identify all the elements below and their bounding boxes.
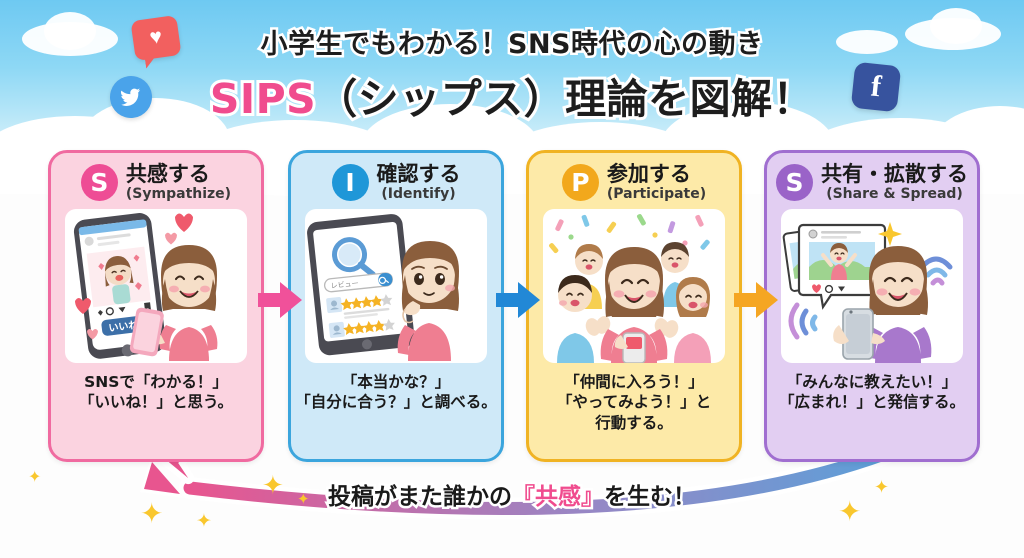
caption-line: 「仲間に入ろう！」	[531, 372, 737, 393]
card-caption: 「本当かな？」 「自分に合う？」と調べる。	[293, 372, 499, 414]
illustration-participate	[543, 209, 725, 363]
illustration-share-spread	[781, 209, 963, 363]
caption-line: 「広まれ！」と発信する。	[769, 392, 975, 413]
card-participate[interactable]: P 参加する (Participate)	[526, 150, 742, 462]
caption-line: 「本当かな？」	[293, 372, 499, 393]
card-header: I 確認する (Identify)	[324, 163, 469, 202]
caption-line: 「いいね！」と思う。	[53, 392, 259, 413]
illustration-identify: レビュー	[305, 209, 487, 363]
card-header: P 参加する (Participate)	[554, 163, 714, 202]
step-badge-p: P	[562, 164, 599, 201]
card-title-en: (Participate)	[607, 186, 706, 202]
sparkle-icon: ✦	[196, 512, 212, 531]
step-badge-s1: S	[81, 164, 118, 201]
card-caption: 「みんなに教えたい！」 「広まれ！」と発信する。	[769, 372, 975, 414]
arrow-step-2-to-3	[496, 282, 540, 318]
card-title-jp: 共感する	[126, 163, 231, 187]
card-title-group: 参加する (Participate)	[607, 163, 706, 202]
caption-line: 行動する。	[531, 413, 737, 434]
loop-text-accent: 『共感』	[512, 484, 604, 510]
card-title-group: 共有・拡散する (Share & Spread)	[821, 163, 968, 202]
caption-line: 「みんなに教えたい！」	[769, 372, 975, 393]
arrow-step-3-to-4	[734, 282, 778, 318]
loop-text-after: を生む！	[604, 484, 696, 510]
card-title-en: (Share & Spread)	[821, 186, 968, 202]
caption-line: 「自分に合う？」と調べる。	[293, 392, 499, 413]
card-identify[interactable]: I 確認する (Identify) レビュー	[288, 150, 504, 462]
caption-line: SNSで「わかる！」	[53, 372, 259, 393]
arrow-step-1-to-2	[258, 282, 302, 318]
loop-text-before: 投稿がまた誰かの	[328, 484, 512, 510]
card-title-en: (Identify)	[377, 186, 461, 202]
title-sips-accent: SIPS	[210, 75, 316, 123]
card-caption: SNSで「わかる！」 「いいね！」と思う。	[53, 372, 259, 414]
card-title-jp: 確認する	[377, 163, 461, 187]
loop-back-message: 投稿がまた誰かの『共感』を生む！	[0, 477, 1024, 511]
infographic-canvas: ♥ f 小学生でもわかる！SNS時代の心の動き SIPS（シップス）理論を図解！…	[0, 0, 1024, 558]
page-title: 小学生でもわかる！SNS時代の心の動き SIPS（シップス）理論を図解！	[0, 22, 1024, 125]
card-header: S 共感する (Sympathize)	[73, 163, 239, 202]
card-share-spread[interactable]: S 共有・拡散する (Share & Spread)	[764, 150, 980, 462]
title-line-2: SIPS（シップス）理論を図解！	[0, 65, 1024, 125]
step-badge-i: I	[332, 164, 369, 201]
card-header: S 共有・拡散する (Share & Spread)	[768, 163, 976, 202]
card-sympathize[interactable]: S 共感する (Sympathize)	[48, 150, 264, 462]
card-title-jp: 参加する	[607, 163, 706, 187]
card-title-group: 確認する (Identify)	[377, 163, 461, 202]
title-line-2-rest: （シップス）理論を図解！	[316, 75, 814, 123]
card-title-group: 共感する (Sympathize)	[126, 163, 231, 202]
card-title-en: (Sympathize)	[126, 186, 231, 202]
step-badge-s2: S	[776, 164, 813, 201]
card-caption: 「仲間に入ろう！」 「やってみよう！」と 行動する。	[531, 372, 737, 435]
card-title-jp: 共有・拡散する	[821, 163, 968, 187]
title-line-1: 小学生でもわかる！SNS時代の心の動き	[0, 22, 1024, 61]
caption-line: 「やってみよう！」と	[531, 392, 737, 413]
illustration-sympathize: いいね!	[65, 209, 247, 363]
